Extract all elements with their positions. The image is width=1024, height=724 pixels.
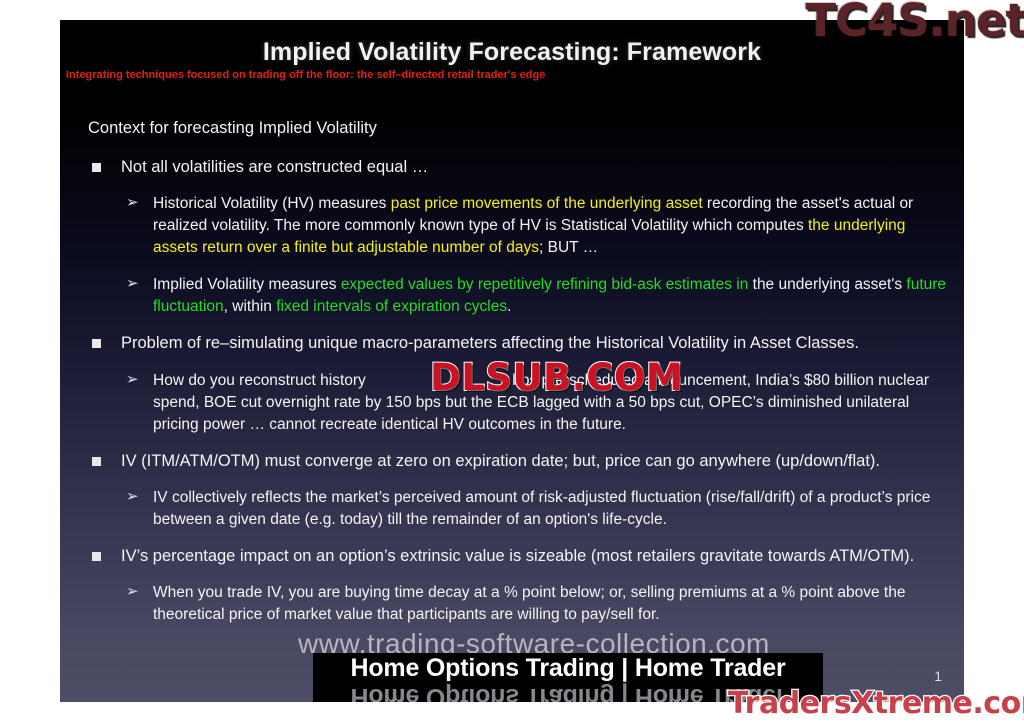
square-bullet-icon: [92, 163, 101, 172]
bullet-text: IV’s percentage impact on an option’s ex…: [121, 547, 914, 565]
lead-paragraph: Context for forecasting Implied Volatili…: [88, 118, 948, 139]
bullet-text: IV collectively reflects the market’s pe…: [153, 489, 930, 528]
text-segment: Problem of re–simulating unique macro-pa…: [121, 334, 859, 352]
bullet-text: Implied Volatility measures expected val…: [153, 276, 946, 315]
bullet-level-1: Problem of re–simulating unique macro-pa…: [88, 333, 948, 354]
watermark-site-url-mirror: www.trading-software-collection.com: [298, 696, 858, 702]
bullet-list: Not all volatilities are constructed equ…: [88, 157, 948, 627]
bullet-text: Historical Volatility (HV) measures past…: [153, 195, 913, 256]
square-bullet-icon: [92, 552, 101, 561]
text-segment: fixed intervals of expiration cycles: [276, 298, 507, 315]
text-segment: IV collectively reflects the market’s pe…: [153, 489, 930, 528]
text-segment: expected values by repetitively refining…: [341, 276, 749, 293]
square-bullet-icon: [92, 339, 101, 348]
arrow-bullet-icon: ➢: [126, 581, 139, 602]
text-segment: [366, 372, 512, 389]
bullet-level-1: Not all volatilities are constructed equ…: [88, 157, 948, 178]
bullet-level-2: ➢Historical Volatility (HV) measures pas…: [88, 193, 948, 259]
text-segment: Implied Volatility measures: [153, 276, 341, 293]
text-segment: past price movements of the underlying a…: [391, 195, 703, 212]
arrow-bullet-icon: ➢: [126, 486, 139, 507]
bullet-text: IV (ITM/ATM/OTM) must converge at zero o…: [121, 452, 880, 470]
text-segment: .: [507, 298, 511, 315]
watermark-banner-title-mirror: Home Options Trading | Home Trader: [313, 682, 823, 702]
bullet-level-1: IV’s percentage impact on an option’s ex…: [88, 546, 948, 567]
watermark-banner-tagline: Integrating techniques focused on tradin…: [66, 69, 586, 81]
bullet-level-1: IV (ITM/ATM/OTM) must converge at zero o…: [88, 451, 948, 472]
text-segment: IV (ITM/ATM/OTM) must converge at zero o…: [121, 452, 880, 470]
bullet-text: Not all volatilities are constructed equ…: [121, 158, 428, 176]
bullet-level-2: ➢When you trade IV, you are buying time …: [88, 582, 948, 626]
arrow-bullet-icon: ➢: [126, 192, 139, 213]
bullet-level-2: ➢How do you reconstruct history bps pre-…: [88, 370, 948, 436]
bullet-level-2: ➢Implied Volatility measures expected va…: [88, 274, 948, 318]
text-segment: Historical Volatility (HV) measures: [153, 195, 391, 212]
watermark-banner-title: Home Options Trading | Home Trader: [313, 654, 823, 683]
slide-body: Context for forecasting Implied Volatili…: [88, 118, 948, 641]
bullet-text: How do you reconstruct history bps pre-s…: [153, 372, 929, 433]
text-segment: the underlying asset's: [748, 276, 906, 293]
page-number: 1: [934, 668, 942, 684]
text-segment: How do you reconstruct history: [153, 372, 366, 389]
text-segment: IV’s percentage impact on an option’s ex…: [121, 547, 914, 565]
text-segment: , within: [224, 298, 277, 315]
text-segment: ; BUT …: [539, 239, 598, 256]
text-segment: When you trade IV, you are buying time d…: [153, 584, 905, 623]
slide-canvas: Implied Volatility Forecasting: Framewor…: [60, 20, 964, 702]
bullet-text: Problem of re–simulating unique macro-pa…: [121, 334, 859, 352]
text-segment: Not all volatilities are constructed equ…: [121, 158, 428, 176]
square-bullet-icon: [92, 457, 101, 466]
bullet-text: When you trade IV, you are buying time d…: [153, 584, 905, 623]
slide-title-bar: Implied Volatility Forecasting: Framewor…: [60, 38, 964, 67]
page-title: Implied Volatility Forecasting: Framewor…: [263, 38, 761, 67]
arrow-bullet-icon: ➢: [126, 369, 139, 390]
watermark-banner: Home Options Trading | Home Trader Home …: [313, 653, 823, 702]
bullet-level-2: ➢IV collectively reflects the market’s p…: [88, 487, 948, 531]
arrow-bullet-icon: ➢: [126, 273, 139, 294]
